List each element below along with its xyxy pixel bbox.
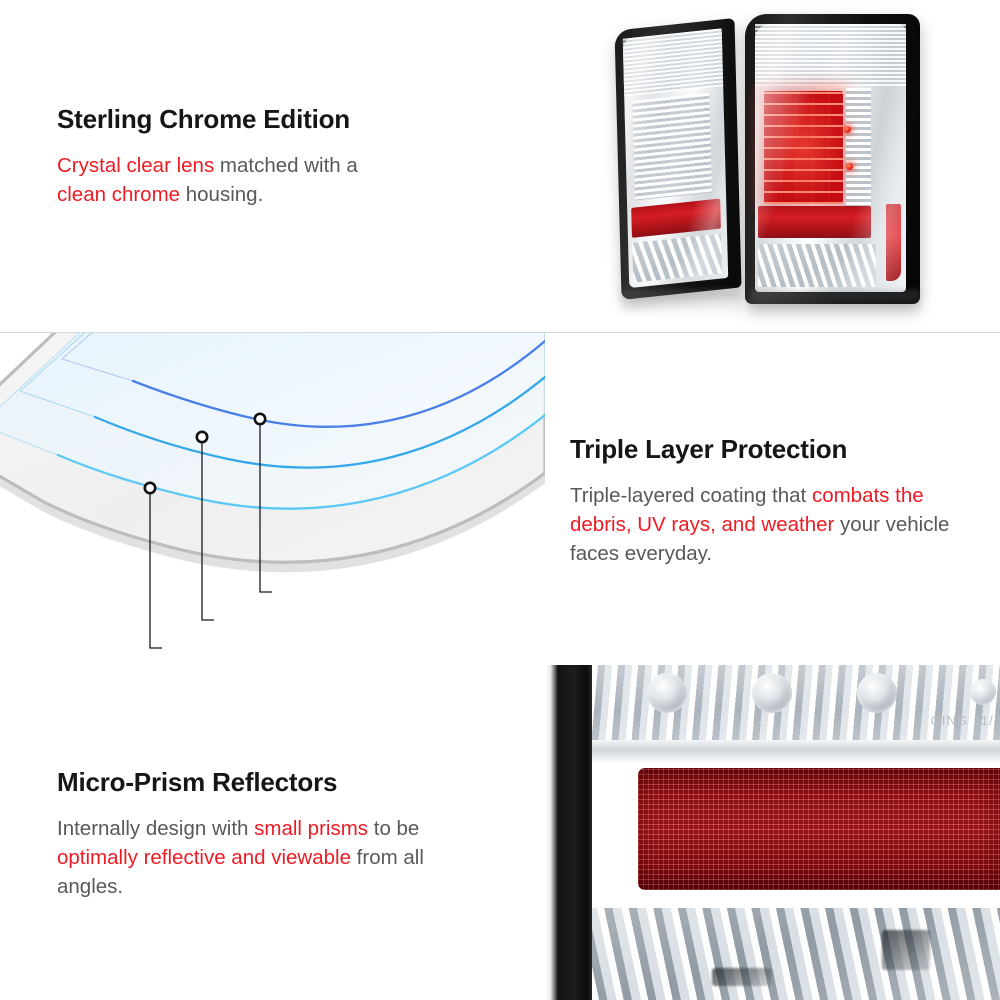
prism-bulb-1 — [647, 673, 687, 713]
callout-dot-water-repellent — [255, 414, 265, 424]
page-title-sterling-chrome: Sterling Chrome Edition — [57, 105, 477, 135]
body-text-internally-design: Internally design with — [57, 817, 254, 840]
taillight-right-reverse-lamp — [758, 244, 876, 287]
section-sterling-chrome: Sterling Chrome Edition Crystal clear le… — [0, 0, 1000, 332]
accent-text-small-prisms: small prisms — [254, 817, 368, 840]
prism-shadow-patch-1 — [882, 930, 930, 970]
taillight-right-red-reflector — [758, 206, 871, 238]
taillight-left-prism-array — [632, 92, 712, 200]
infographic-page: Sterling Chrome Edition Crystal clear le… — [0, 0, 1000, 1000]
accent-text-optimally-reflective: optimally reflective and viewable — [57, 846, 351, 869]
taillight-left-unit — [614, 18, 741, 300]
taillight-left-reflection — [622, 290, 740, 316]
section-one-description: Crystal clear lens matched with a clean … — [57, 151, 477, 209]
body-text-triple-layered: Triple-layered coating that — [570, 484, 812, 507]
prism-bulb-4 — [970, 679, 996, 705]
taillight-left-reverse-lamp — [632, 234, 722, 283]
prism-shadow-patch-2 — [712, 968, 772, 986]
lens-coating-diagram: Water-Repellent Coating Ultraviolet Filt… — [0, 333, 545, 666]
callout-dot-impact-resistant — [145, 483, 155, 493]
taillight-marker-dot-lower — [846, 163, 853, 170]
taillight-right-red-edge — [886, 204, 901, 282]
reflector-closeup-photo: OING 11/ — [546, 665, 1000, 1000]
section-triple-layer: Water-Repellent Coating Ultraviolet Filt… — [0, 332, 1000, 666]
section-one-text-block: Sterling Chrome Edition Crystal clear le… — [57, 105, 477, 209]
taillight-marker-dot-upper — [844, 126, 851, 133]
taillight-right-reflection — [750, 290, 920, 316]
body-text-housing: housing. — [180, 183, 263, 206]
reflector-chrome-top-section — [592, 665, 1000, 740]
taillight-left-lens — [623, 28, 729, 288]
reflector-chrome-bottom-section — [592, 908, 1000, 1000]
taillight-right-rib-top — [755, 24, 906, 86]
section-two-text-block: Triple Layer Protection Triple-layered c… — [570, 435, 970, 568]
red-honeycomb-reflector — [638, 768, 1000, 890]
taillight-right-lens — [755, 24, 906, 292]
callout-dot-ultraviolet-filter — [197, 432, 207, 442]
page-title-micro-prism: Micro-Prism Reflectors — [57, 768, 487, 798]
reflector-housing-seam — [592, 740, 1000, 762]
taillight-right-prism-column — [846, 88, 872, 206]
taillight-pair-photo — [610, 8, 1000, 318]
section-three-text-block: Micro-Prism Reflectors Internally design… — [57, 768, 487, 901]
taillight-left-red-reflector — [631, 199, 721, 238]
taillight-right-unit — [745, 14, 920, 304]
accent-text-crystal-clear-lens: Crystal clear lens — [57, 154, 214, 177]
taillight-led-array — [764, 91, 843, 204]
taillight-left-rib-top — [623, 28, 723, 96]
accent-text-clean-chrome: clean chrome — [57, 183, 180, 206]
section-three-description: Internally design with small prisms to b… — [57, 814, 487, 901]
reflector-black-bezel — [546, 665, 592, 1000]
section-micro-prism: Micro-Prism Reflectors Internally design… — [0, 665, 1000, 1000]
body-text-matched-with: matched with a — [214, 154, 358, 177]
section-two-description: Triple-layered coating that combats the … — [570, 481, 970, 568]
page-title-triple-layer: Triple Layer Protection — [570, 435, 970, 465]
prism-bulb-2 — [752, 673, 792, 713]
body-text-to-be: to be — [368, 817, 419, 840]
embossed-marking-text: OING 11/ — [930, 713, 994, 728]
prism-bulb-3 — [857, 673, 897, 713]
